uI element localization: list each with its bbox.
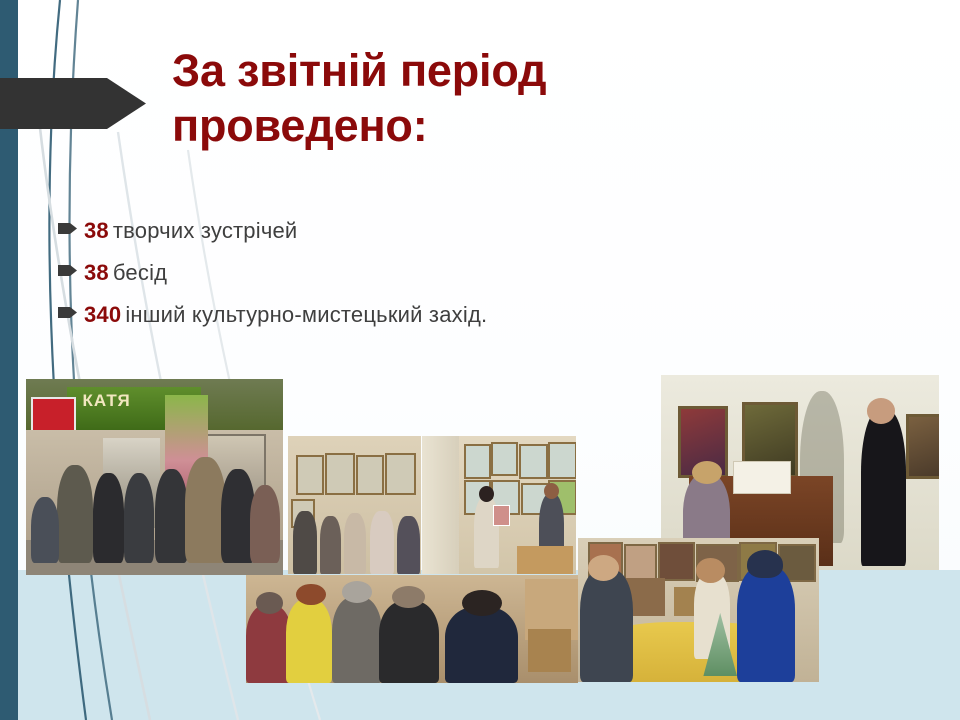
photo-gallery-visitors: [288, 436, 421, 574]
arrow-bullet-icon: [58, 223, 84, 234]
photo-street-gathering: КАТЯ: [26, 379, 283, 575]
presentation-slide: За звітній період проведено: 38творчих з…: [0, 0, 960, 720]
bullet-list: 38творчих зустрічей 38бесід 340інший кул…: [58, 218, 758, 344]
list-item-text: 38творчих зустрічей: [84, 218, 297, 244]
arrow-bullet-icon: [58, 307, 84, 318]
page-title: За звітній період проведено:: [172, 44, 772, 154]
arrow-bullet-icon: [58, 265, 84, 276]
list-item: 340інший культурно-мистецький захід.: [58, 302, 758, 344]
list-item-number: 340: [84, 302, 121, 327]
list-item-text: 38бесід: [84, 260, 167, 286]
shop-sign-text: КАТЯ: [83, 391, 131, 411]
list-item-number: 38: [84, 260, 109, 285]
list-item-text: 340інший культурно-мистецький захід.: [84, 302, 487, 328]
list-item: 38бесід: [58, 260, 758, 302]
list-item-label: бесід: [113, 260, 167, 285]
list-item-label: інший культурно-мистецький захід.: [125, 302, 487, 327]
photo-craft-workshop: [578, 538, 819, 682]
list-item-number: 38: [84, 218, 109, 243]
list-item: 38творчих зустрічей: [58, 218, 758, 260]
list-item-label: творчих зустрічей: [113, 218, 298, 243]
photo-seated-audience: [246, 575, 578, 683]
photo-gallery-speaker: [422, 436, 576, 574]
